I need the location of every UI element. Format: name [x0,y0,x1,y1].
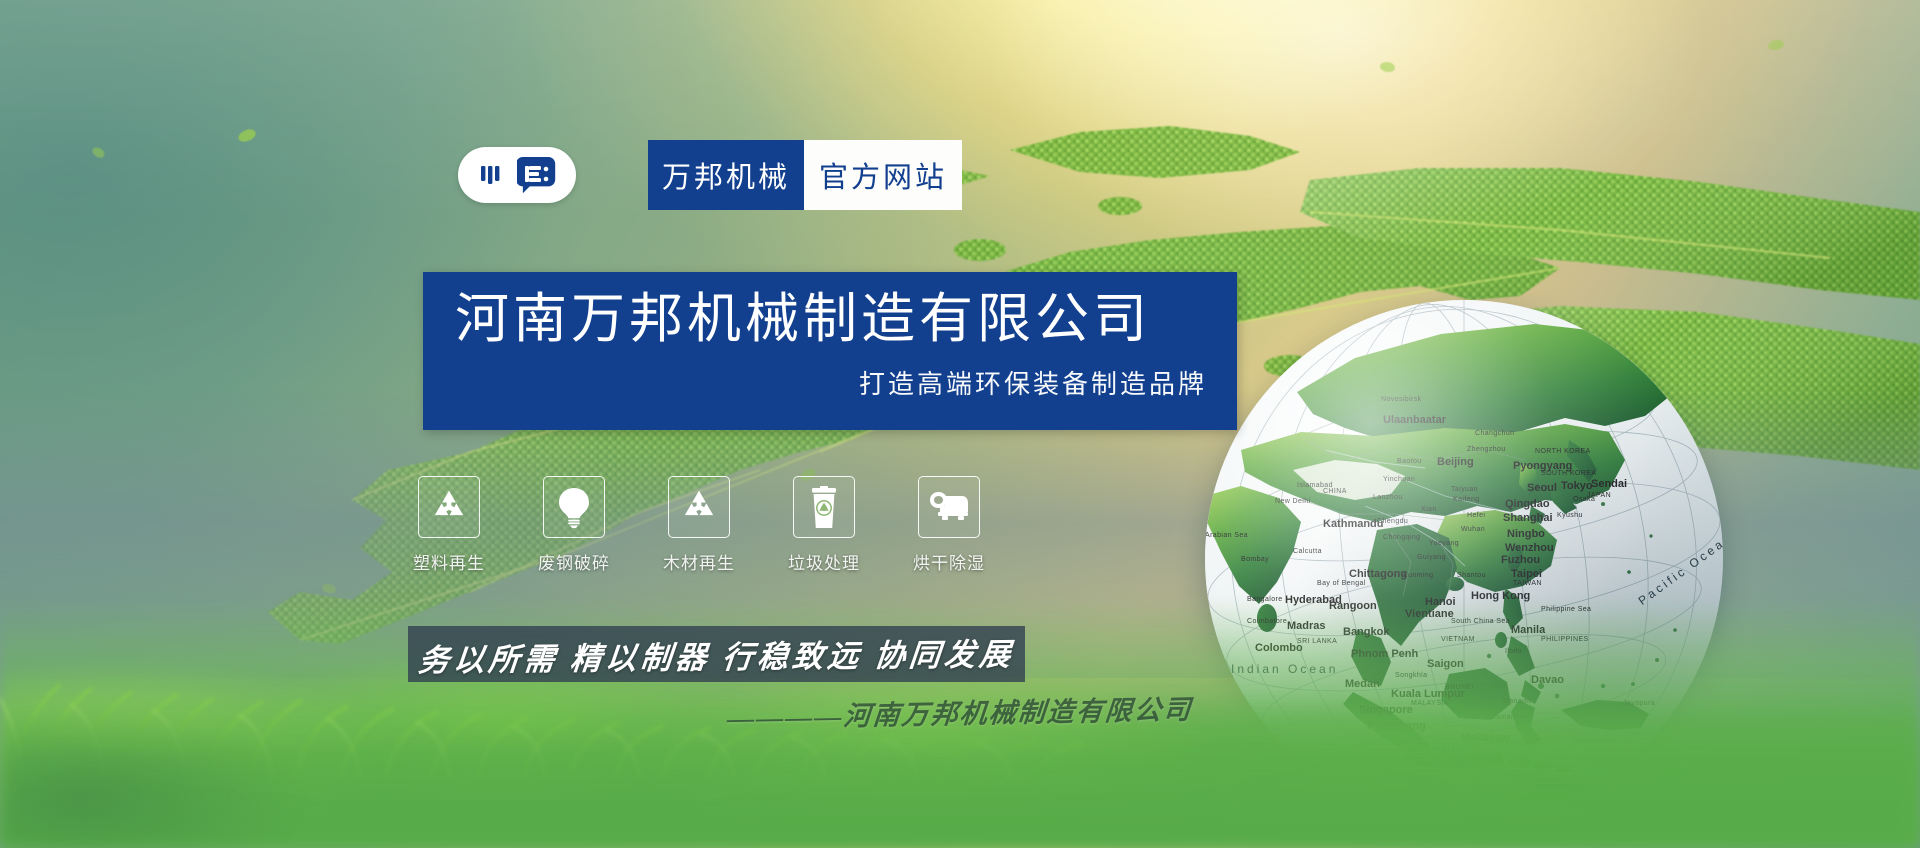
brand-name-badge[interactable]: 万邦机械 [648,140,804,210]
official-site-badge[interactable]: 官方网站 [804,140,962,210]
feature-item-wood-recycling[interactable]: 木材再生 [668,476,730,574]
recycle-icon[interactable] [418,476,480,538]
official-site-text: 官方网站 [819,154,947,196]
page-title: 河南万邦机械制造有限公司 [455,288,1207,352]
dryer-machine-icon[interactable] [918,476,980,538]
feature-item-steel-shredding[interactable]: 废钢破碎 [543,476,605,574]
feature-label: 烘干除湿 [913,549,985,574]
feature-item-waste-treatment[interactable]: 垃圾处理 [793,476,855,574]
brand-name-text: 万邦机械 [662,154,790,196]
feature-label: 木材再生 [663,549,735,574]
feature-icon-row: 塑料再生 废钢破碎 [418,476,980,574]
logo-speech-bubble-b-icon [517,155,557,195]
trash-bin-icon[interactable] [793,476,855,538]
logo-w-icon [477,158,511,192]
foreground-grass-shadow [0,678,420,848]
hero-title-panel: 河南万邦机械制造有限公司 打造高端环保装备制造品牌 [423,272,1237,430]
feature-label: 废钢破碎 [538,549,610,574]
feature-item-plastic-recycling[interactable]: 塑料再生 [418,476,480,574]
wanbang-w-b-logo[interactable] [458,147,576,203]
feature-label: 塑料再生 [413,549,485,574]
hero-banner-stage: Novosibirsk Ulaanbaatar Changchun Zhengz… [0,0,1920,848]
slogan-text: 务以所需 精以制器 行稳致远 协同发展 [416,628,1016,679]
feature-item-drying-dehumidifying[interactable]: 烘干除湿 [918,476,980,574]
lightbulb-icon[interactable] [543,476,605,538]
feature-label: 垃圾处理 [788,549,860,574]
recycle-icon[interactable] [668,476,730,538]
site-header-logo-row[interactable]: 万邦机械 官方网站 [458,140,962,210]
slogan-banner: 务以所需 精以制器 行稳致远 协同发展 [408,626,1025,682]
page-subtitle: 打造高端环保装备制造品牌 [455,364,1207,401]
